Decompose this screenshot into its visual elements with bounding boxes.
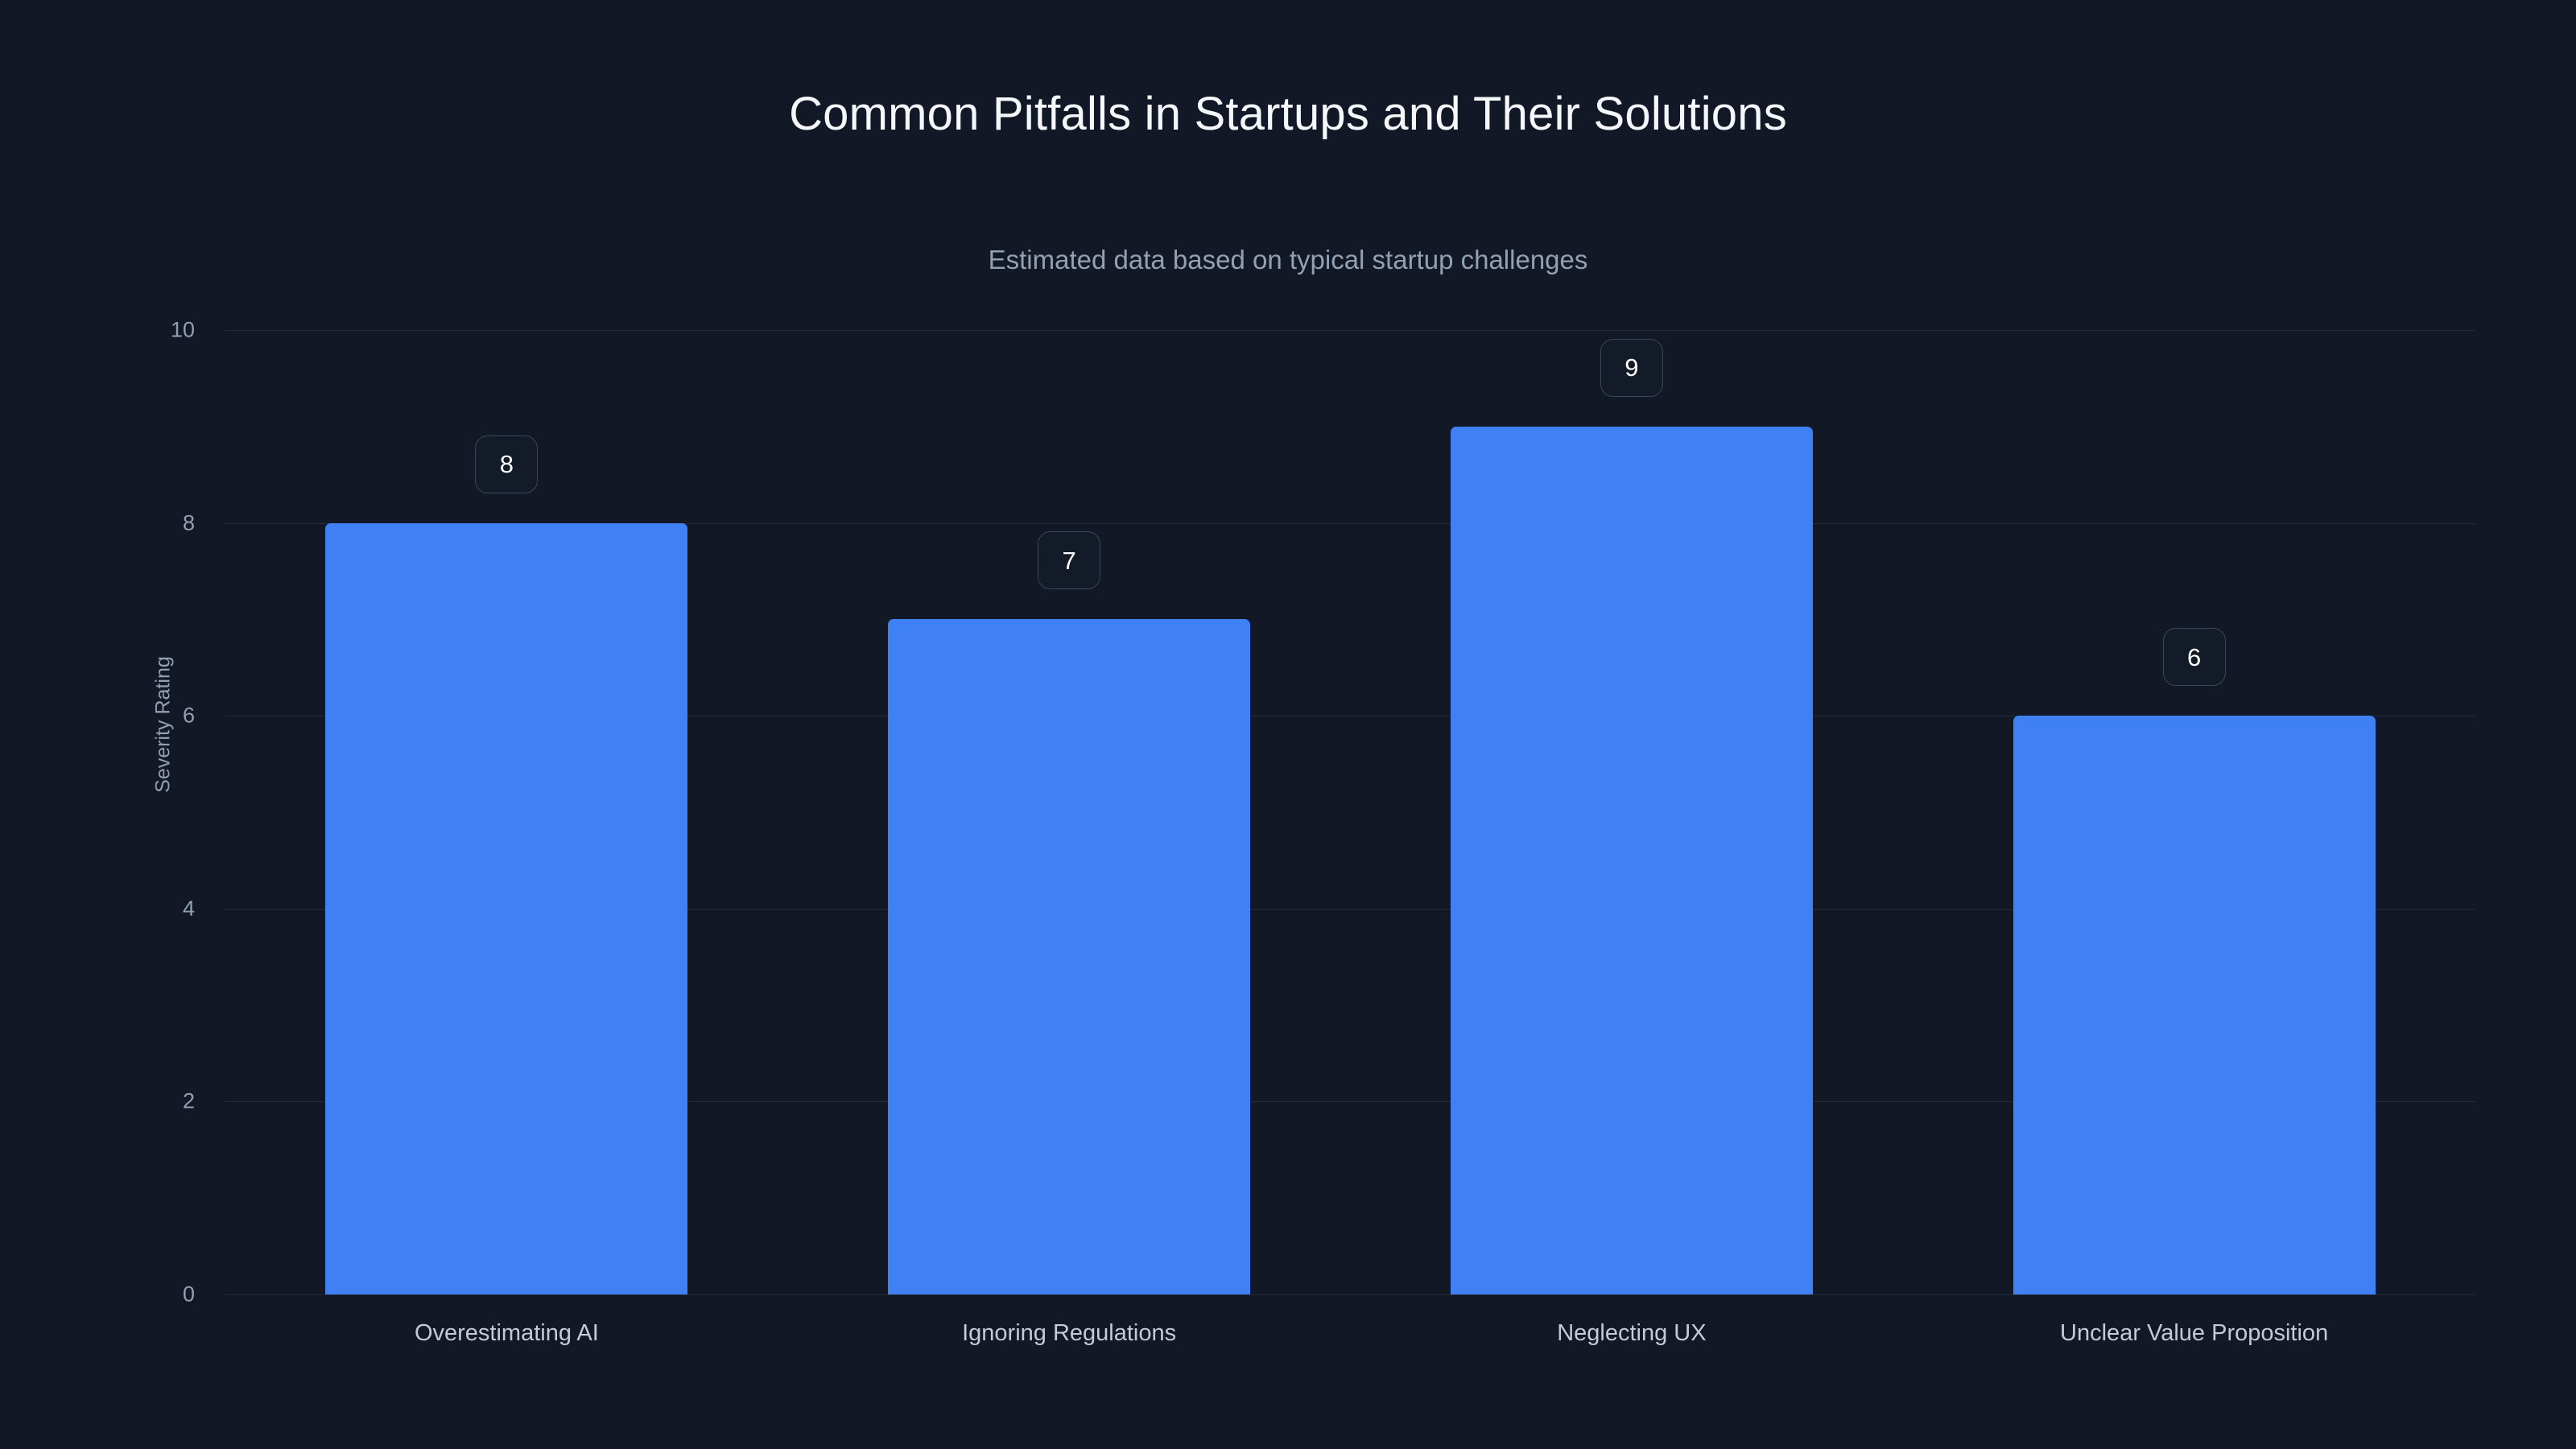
chart-container: Common Pitfalls in Startups and Their So…	[0, 0, 2576, 1449]
bar[interactable]	[2013, 716, 2376, 1294]
bar-value-badge: 6	[2163, 628, 2226, 686]
y-axis-tick-label: 0	[183, 1282, 195, 1307]
y-axis-tick-label: 8	[183, 510, 195, 535]
bar-value-badge: 7	[1038, 531, 1100, 589]
plot-area	[225, 330, 2475, 1294]
bar[interactable]	[888, 619, 1250, 1294]
y-axis-tick-label: 10	[171, 318, 195, 343]
y-axis-tick-label: 4	[183, 896, 195, 921]
x-axis-tick-label: Overestimating AI	[415, 1320, 599, 1347]
x-axis-tick-label: Unclear Value Proposition	[2060, 1320, 2328, 1347]
y-axis-tick-label: 2	[183, 1089, 195, 1114]
chart-title: Common Pitfalls in Startups and Their So…	[0, 89, 2576, 140]
x-axis-tick-label: Neglecting UX	[1557, 1320, 1706, 1347]
y-axis-tick-label: 6	[183, 704, 195, 729]
bar[interactable]	[325, 523, 687, 1294]
bar[interactable]	[1451, 427, 1813, 1294]
gridline	[225, 1294, 2475, 1295]
bar-value-badge: 8	[475, 436, 538, 493]
x-axis-tick-label: Ignoring Regulations	[962, 1320, 1176, 1347]
y-axis-tick-group: 1086420	[0, 330, 217, 1294]
gridline	[225, 330, 2475, 331]
bar-value-badge: 9	[1600, 339, 1663, 397]
chart-subtitle: Estimated data based on typical startup …	[0, 246, 2576, 275]
